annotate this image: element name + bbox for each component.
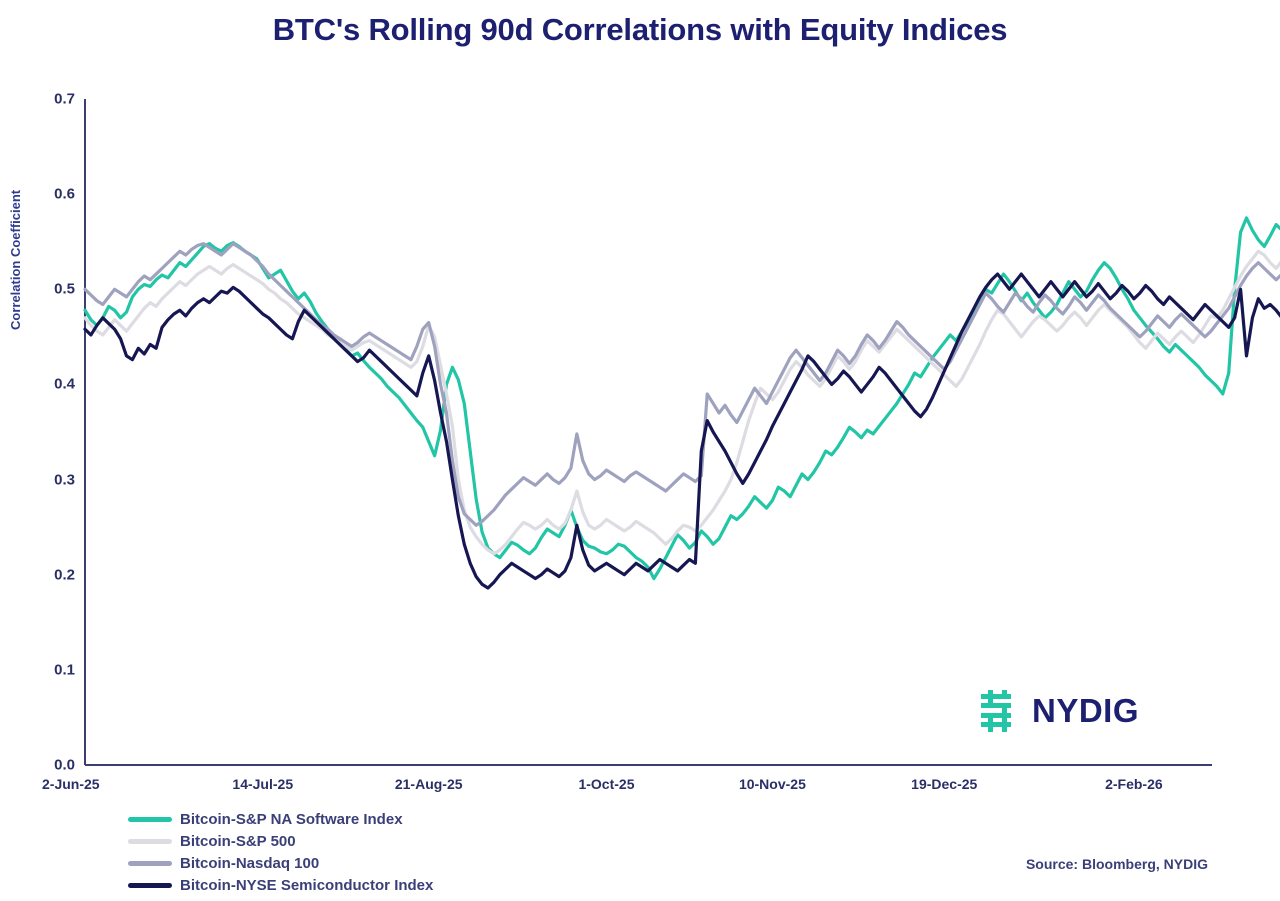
- legend-color-swatch: [128, 883, 172, 888]
- chart-legend: Bitcoin-S&P NA Software IndexBitcoin-S&P…: [128, 808, 433, 896]
- chart-container: BTC's Rolling 90d Correlations with Equi…: [0, 0, 1280, 901]
- logo-notch: [1002, 699, 1007, 703]
- legend-item-label: Bitcoin-Nasdaq 100: [180, 855, 319, 872]
- legend-item[interactable]: Bitcoin-S&P 500: [128, 830, 433, 852]
- brand-wordmark: NYDIG: [1032, 692, 1139, 730]
- plot-area: [0, 0, 1280, 901]
- legend-item-label: Bitcoin-S&P 500: [180, 833, 296, 850]
- x-axis-tick-label: 1-Oct-25: [578, 776, 634, 792]
- legend-color-swatch: [128, 839, 172, 844]
- data-series-layer: [85, 218, 1280, 588]
- legend-item-label: Bitcoin-S&P NA Software Index: [180, 811, 403, 828]
- source-note: Source: Bloomberg, NYDIG: [1026, 856, 1208, 872]
- legend-item[interactable]: Bitcoin-S&P NA Software Index: [128, 808, 433, 830]
- legend-item[interactable]: Bitcoin-Nasdaq 100: [128, 852, 433, 874]
- x-axis-tick-label: 21-Aug-25: [395, 776, 463, 792]
- x-axis-tick-label: 2-Feb-26: [1105, 776, 1163, 792]
- logo-stem: [1002, 690, 1007, 732]
- x-axis-tick-label: 14-Jul-25: [232, 776, 293, 792]
- x-axis-tick-label: 19-Dec-25: [911, 776, 977, 792]
- nydig-brand: NYDIG: [975, 690, 1139, 732]
- logo-notch: [988, 708, 993, 713]
- nydig-logo-icon: [975, 690, 1021, 732]
- axis-lines: [85, 99, 1212, 765]
- legend-item[interactable]: Bitcoin-NYSE Semiconductor Index: [128, 874, 433, 896]
- x-axis-tick-label: 10-Nov-25: [739, 776, 806, 792]
- legend-color-swatch: [128, 817, 172, 822]
- legend-color-swatch: [128, 861, 172, 866]
- x-axis-tick-label: 2-Jun-25: [42, 776, 100, 792]
- legend-item-label: Bitcoin-NYSE Semiconductor Index: [180, 877, 433, 894]
